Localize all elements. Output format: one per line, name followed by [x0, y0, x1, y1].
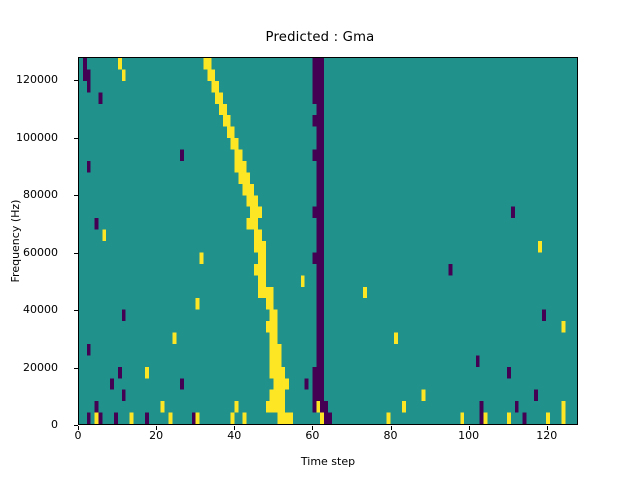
x-axis-label: Time step: [78, 455, 578, 468]
y-tick-mark: [74, 195, 78, 196]
x-tick-mark: [547, 426, 548, 430]
x-tick-label: 80: [361, 430, 421, 441]
x-tick-label: 120: [517, 430, 577, 441]
page-title: Predicted : Gma: [0, 30, 640, 45]
x-tick-mark: [156, 426, 157, 430]
y-tick-mark: [74, 368, 78, 369]
x-tick-label: 100: [439, 430, 499, 441]
x-tick-mark: [78, 426, 79, 430]
x-tick-label: 0: [48, 430, 108, 441]
y-tick-mark: [74, 138, 78, 139]
heatmap-axes[interactable]: [78, 57, 578, 425]
matplotlib-figure: Predicted : Gma Frequency (Hz) Time step…: [0, 0, 640, 480]
y-tick-mark: [74, 310, 78, 311]
x-tick-label: 20: [126, 430, 186, 441]
y-tick-label: 60000: [0, 247, 58, 258]
x-tick-label: 40: [204, 430, 264, 441]
y-tick-label: 120000: [0, 74, 58, 85]
x-tick-label: 60: [282, 430, 342, 441]
y-tick-label: 80000: [0, 189, 58, 200]
x-tick-mark: [312, 426, 313, 430]
y-tick-mark: [74, 253, 78, 254]
heatmap-canvas[interactable]: [79, 58, 577, 424]
y-tick-label: 100000: [0, 132, 58, 143]
y-tick-label: 20000: [0, 362, 58, 373]
x-tick-mark: [469, 426, 470, 430]
y-tick-label: 0: [0, 419, 58, 430]
y-tick-mark: [74, 80, 78, 81]
x-tick-mark: [391, 426, 392, 430]
x-tick-mark: [234, 426, 235, 430]
y-tick-label: 40000: [0, 304, 58, 315]
